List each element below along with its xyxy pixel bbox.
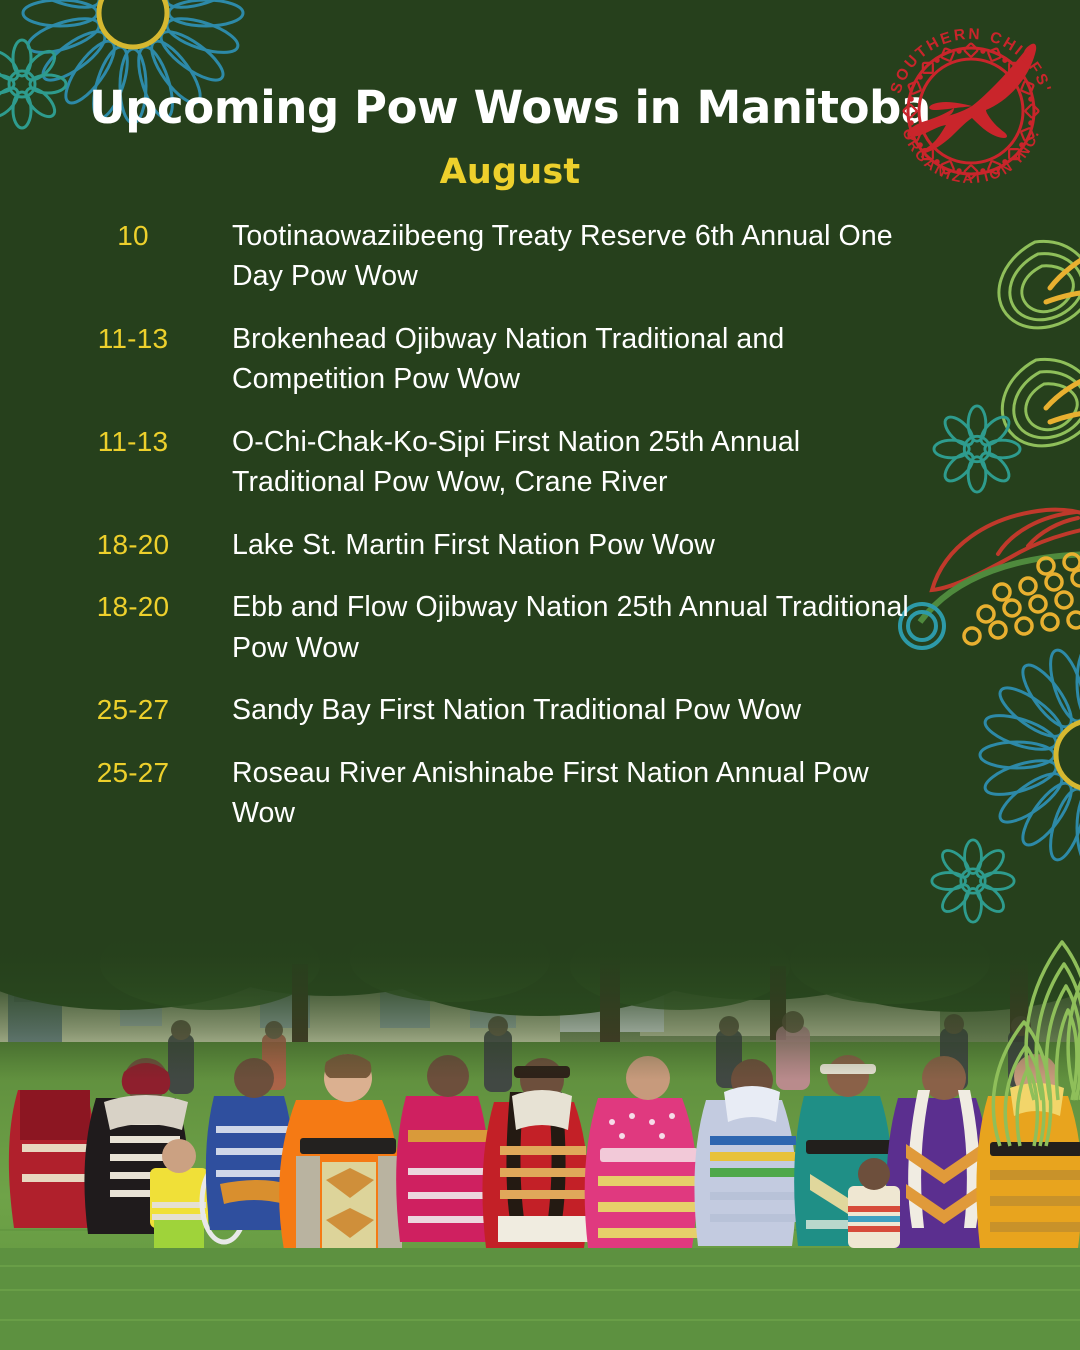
event-name: O-Chi-Chak-Ko-Sipi First Nation 25th Ann…	[206, 422, 1080, 503]
event-date: 18-20	[60, 525, 206, 565]
event-name: Brokenhead Ojibway Nation Traditional an…	[206, 319, 1080, 400]
list-item: 25-27 Roseau River Anishinabe First Nati…	[0, 753, 1080, 834]
powwow-dancers-photo	[0, 930, 1080, 1350]
list-item: 18-20 Ebb and Flow Ojibway Nation 25th A…	[0, 587, 1080, 668]
event-date: 11-13	[60, 319, 206, 359]
event-date: 11-13	[60, 422, 206, 462]
event-name: Tootinaowaziibeeng Treaty Reserve 6th An…	[206, 216, 1080, 297]
poster-canvas: SOUTHERN CHIEFS' ORGANIZATION INC. Upcom…	[0, 0, 1080, 1350]
list-item: 11-13 Brokenhead Ojibway Nation Traditio…	[0, 319, 1080, 400]
southern-chiefs-organization-logo: SOUTHERN CHIEFS' ORGANIZATION INC.	[876, 14, 1066, 204]
event-name: Lake St. Martin First Nation Pow Wow	[206, 525, 1080, 565]
list-item: 11-13 O-Chi-Chak-Ko-Sipi First Nation 25…	[0, 422, 1080, 503]
event-name: Roseau River Anishinabe First Nation Ann…	[206, 753, 1080, 834]
event-name: Ebb and Flow Ojibway Nation 25th Annual …	[206, 587, 1080, 668]
event-date: 25-27	[60, 690, 206, 730]
list-item: 10 Tootinaowaziibeeng Treaty Reserve 6th…	[0, 216, 1080, 297]
event-list: 10 Tootinaowaziibeeng Treaty Reserve 6th…	[0, 216, 1080, 856]
event-name: Sandy Bay First Nation Traditional Pow W…	[206, 690, 1080, 730]
event-date: 10	[60, 216, 206, 256]
list-item: 18-20 Lake St. Martin First Nation Pow W…	[0, 525, 1080, 565]
list-item: 25-27 Sandy Bay First Nation Traditional…	[0, 690, 1080, 730]
event-date: 25-27	[60, 753, 206, 793]
event-date: 18-20	[60, 587, 206, 627]
